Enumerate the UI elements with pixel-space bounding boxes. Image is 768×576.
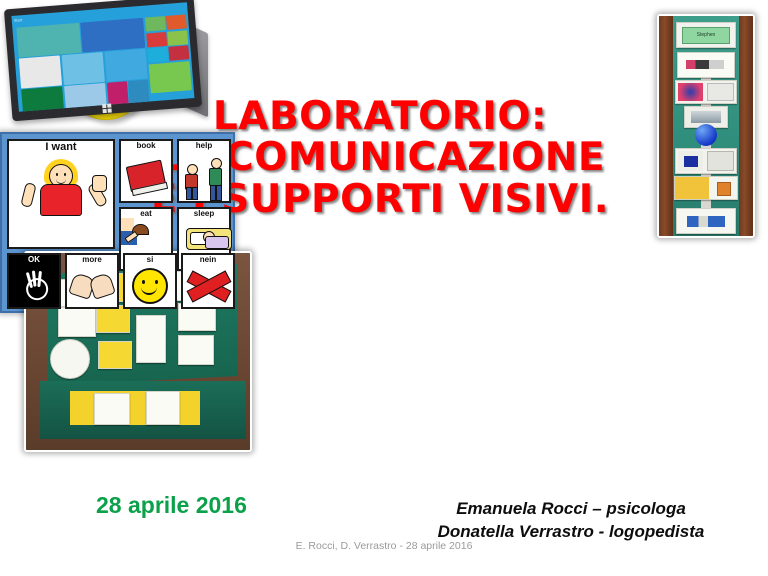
pecs-art-two-hands-more <box>67 264 117 307</box>
start-screen-label: Start <box>14 17 23 23</box>
pecs-label-sleep: sleep <box>194 210 214 218</box>
tile-11 <box>168 45 189 61</box>
pecs-art-ok-hand-sign <box>9 264 59 307</box>
pecs-cell-nein: nein <box>181 253 235 309</box>
schedule-name-label: Stephen <box>682 27 730 44</box>
pecs-art-red-x <box>183 264 233 307</box>
schedule-card-5 <box>674 176 738 200</box>
pecs-label-ok: OK <box>28 256 40 264</box>
pecs-art-red-book <box>121 150 171 201</box>
presenter-1: Emanuela Rocci – psicologa <box>406 498 736 521</box>
pecs-label-si: si <box>147 256 154 264</box>
board-sentence-card-item <box>146 391 180 425</box>
pecs-label-more: more <box>82 256 102 264</box>
board-yellow-strip <box>70 391 200 425</box>
pecs-cell-i-want: I want <box>7 139 115 249</box>
schedule-frame-left <box>659 16 673 236</box>
schedule-card-2b <box>707 83 734 101</box>
presenter-credits: Emanuela Rocci – psicologa Donatella Ver… <box>406 498 736 544</box>
tile-2 <box>80 18 145 52</box>
tile-1 <box>16 23 81 57</box>
pecs-art-two-people-helping <box>179 150 229 201</box>
tile-6 <box>167 30 188 46</box>
board-card-juice-box <box>136 315 166 363</box>
tile-7 <box>19 55 63 88</box>
pecs-grid-wrap: I want book help <box>7 139 228 306</box>
pecs-cell-book: book <box>119 139 173 203</box>
schedule-ball-icon <box>695 124 717 146</box>
presentation-slide: LABORATORIO: LA COMUNICAZIONE E I SUPPOR… <box>0 0 768 576</box>
board-card-grapes <box>178 335 214 365</box>
tile-16 <box>128 80 150 111</box>
pecs-communication-grid-photo: I want book help <box>0 132 235 313</box>
pecs-art-yellow-smiley <box>125 264 175 307</box>
schedule-card-4 <box>675 148 737 174</box>
tablet-screen: Start <box>11 2 194 112</box>
pecs-label-i-want: I want <box>45 142 76 153</box>
event-date: 28 aprile 2016 <box>96 492 247 519</box>
tile-5 <box>146 32 167 48</box>
tile-13 <box>21 86 65 111</box>
tile-12 <box>148 61 192 94</box>
pecs-label-book: book <box>136 142 155 150</box>
pecs-cell-help: help <box>177 139 231 203</box>
schedule-card-4a <box>678 151 703 171</box>
start-screen-tiles <box>16 14 192 107</box>
tile-14 <box>64 83 108 112</box>
tablet-body: Start <box>4 0 202 121</box>
tile-10 <box>147 47 168 63</box>
slide-footer: E. Rocci, D. Verrastro - 28 aprile 2016 <box>0 540 768 552</box>
schedule-card-4b <box>707 151 734 171</box>
pecs-cell-ok: OK <box>7 253 61 309</box>
board-card-round-drink <box>50 339 90 379</box>
tile-3 <box>145 16 166 32</box>
schedule-card-2 <box>675 80 737 104</box>
pecs-label-eat: eat <box>140 210 152 218</box>
pecs-cell-more: more <box>65 253 119 309</box>
windows-logo-icon <box>102 104 112 114</box>
pecs-art-girl-signing <box>9 153 113 247</box>
vertical-visual-schedule-photo: Stephen <box>657 14 755 238</box>
tile-8 <box>62 52 106 85</box>
schedule-name-card: Stephen <box>676 22 736 48</box>
schedule-card-6 <box>676 208 736 234</box>
schedule-frame-right <box>739 16 753 236</box>
board-card-cookie <box>96 305 130 333</box>
pecs-cell-si: si <box>123 253 177 309</box>
board-card-cookie-bw <box>58 307 96 337</box>
board-card-blue-item <box>98 341 132 369</box>
schedule-card-1 <box>677 52 735 78</box>
board-sentence-card-i-want <box>94 393 130 425</box>
pecs-label-nein: nein <box>200 256 216 264</box>
schedule-card-2a <box>678 83 703 101</box>
pecs-label-help: help <box>196 142 212 150</box>
tile-9 <box>104 49 148 82</box>
tile-4 <box>166 14 187 30</box>
